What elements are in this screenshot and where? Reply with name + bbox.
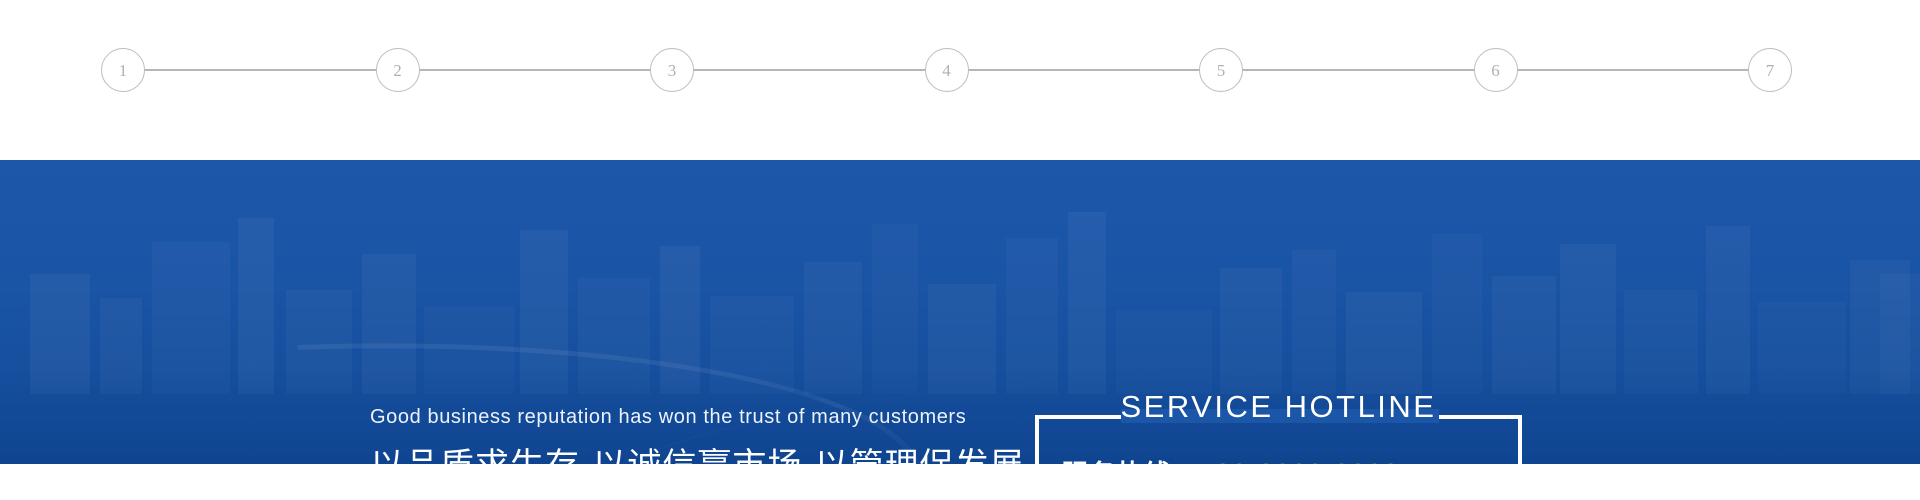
step-node-label: 1 <box>119 62 128 79</box>
step-node-4[interactable]: 4 <box>925 48 969 92</box>
step-node-7[interactable]: 7 <box>1748 48 1792 92</box>
slogan-english: Good business reputation has won the tru… <box>370 405 950 429</box>
hotline-box: SERVICE HOTLINE 服务热线： 183-2660-0068 0551… <box>1035 415 1522 464</box>
step-node-label: 5 <box>1217 62 1226 79</box>
slogan-block: Good business reputation has won the tru… <box>370 405 950 464</box>
cityscape-silhouette-right <box>1550 204 1920 394</box>
stepper-band: 1 2 3 4 5 6 7 <box>0 0 1920 160</box>
hotline-row-primary: 服务热线： 183-2660-0068 <box>1061 453 1501 464</box>
step-node-label: 7 <box>1766 62 1775 79</box>
hotline-number-list: 服务热线： 183-2660-0068 0551-63749777 <box>1061 453 1501 464</box>
hotline-number-primary[interactable]: 183-2660-0068 <box>1199 459 1400 464</box>
step-node-6[interactable]: 6 <box>1474 48 1518 92</box>
step-node-label: 6 <box>1491 62 1500 79</box>
slogan-chinese-main: 以品质求生存·以诚信赢市场·以管理促发展 <box>370 445 950 464</box>
step-node-2[interactable]: 2 <box>376 48 420 92</box>
hotline-title: SERVICE HOTLINE <box>1035 391 1522 422</box>
promo-banner: Good business reputation has won the tru… <box>0 160 1920 464</box>
step-node-label: 2 <box>393 62 402 79</box>
step-node-3[interactable]: 3 <box>650 48 694 92</box>
step-node-1[interactable]: 1 <box>101 48 145 92</box>
step-node-label: 3 <box>668 62 677 79</box>
step-node-label: 4 <box>942 62 951 79</box>
step-node-5[interactable]: 5 <box>1199 48 1243 92</box>
hotline-label: 服务热线： <box>1061 453 1199 464</box>
